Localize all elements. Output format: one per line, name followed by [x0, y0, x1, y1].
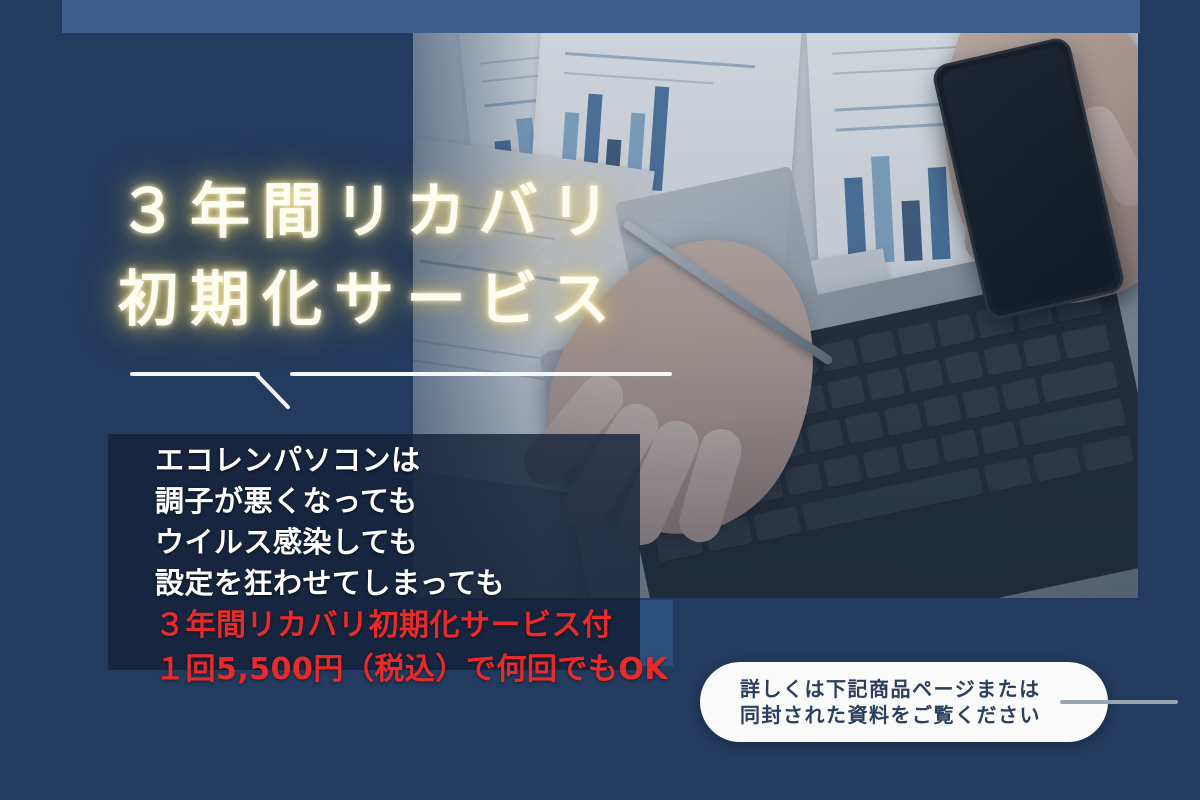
copy-line: エコレンパソコンは — [155, 440, 668, 481]
callout-line-1: 詳しくは下記商品ページまたは — [740, 676, 1084, 702]
copy-line-highlight: ３年間リカバリ初期化サービス付 — [155, 604, 668, 648]
copy-line: 設定を狂わせてしまっても — [155, 563, 668, 604]
page-title: ３年間リカバリ 初期化サービス — [118, 168, 622, 344]
info-callout[interactable]: 詳しくは下記商品ページまたは 同封された資料をご覧ください — [700, 662, 1108, 742]
body-copy: エコレンパソコンは 調子が悪くなっても ウイルス感染しても 設定を狂わせてしまっ… — [155, 440, 668, 692]
bracket-segment-right — [290, 372, 672, 376]
copy-line-price: １回5,500円（税込）で何回でもOK — [155, 648, 668, 692]
copy-line: ウイルス感染しても — [155, 522, 668, 563]
callout-tail-line — [1060, 700, 1178, 704]
headline-line-2: 初期化サービス — [118, 256, 622, 344]
callout-line-2: 同封された資料をご覧ください — [740, 702, 1084, 728]
top-accent-band — [62, 0, 1140, 33]
headline-line-1: ３年間リカバリ — [118, 168, 622, 256]
bracket-segment-left — [130, 372, 260, 376]
banner-canvas: ３年間リカバリ 初期化サービス エコレンパソコンは 調子が悪くなっても ウイルス… — [0, 0, 1200, 800]
copy-line: 調子が悪くなっても — [155, 481, 668, 522]
info-callout-text: 詳しくは下記商品ページまたは 同封された資料をご覧ください — [740, 676, 1084, 728]
